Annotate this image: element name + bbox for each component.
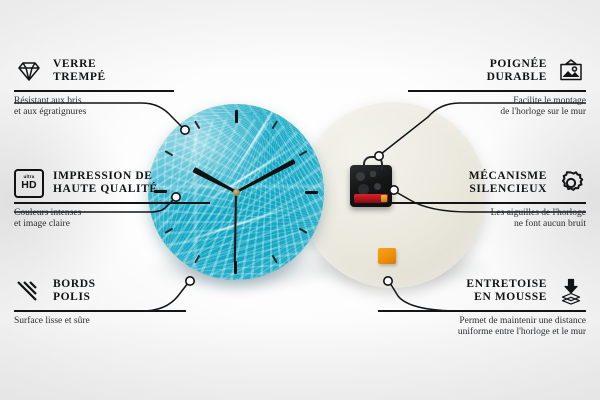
framed-picture-icon [556,56,586,86]
feature-title-line1: IMPRESSION DE [53,170,158,183]
feature-divider [14,202,210,204]
feature-divider [408,90,586,92]
feature-desc-line2: de l'horloge sur le mur [378,107,586,119]
ultra-hd-badge-icon: ultra HD [14,168,44,198]
feature-desc-line1: Permet de maintenir une distance [378,316,586,328]
feature-description: Les aiguilles de l'horloge ne font aucun… [378,208,586,231]
feature-desc-line2: et aux égratignures [14,107,222,119]
feature-desc-line2: et image claire [14,219,222,231]
hands-center-cap [233,189,240,196]
feature-desc-line1: Facilite le montage [378,96,586,108]
feature-title-line2: POLIS [53,291,96,304]
feature-entretoise-en-mousse: ENTRETOISE EN MOUSSE Permet de maintenir… [378,276,586,339]
feature-title-line2: TREMPÉ [53,71,106,84]
hour-marker [236,191,324,193]
feature-title: POIGNÉE DURABLE [487,58,547,84]
feature-description: Permet de maintenir une distance uniform… [378,316,586,339]
mechanism-detail [356,172,365,181]
diamond-icon [14,56,44,86]
feature-title: MÉCANISME SILENCIEUX [469,170,547,196]
feature-desc-line2: ne font aucun bruit [378,219,586,231]
feature-title-line1: VERRE [53,58,106,71]
feature-desc-line1: Résistant aux bris [14,96,222,108]
feature-title: BORDS POLIS [53,278,96,304]
feature-impression-haute-qualite: ultra HD IMPRESSION DE HAUTE QUALITÉ Cou… [14,168,222,231]
feature-desc-line2: uniforme entre l'horloge et le mur [378,327,586,339]
feature-title-line1: ENTRETOISE [466,278,547,291]
mechanism-detail [370,171,376,177]
feature-title: VERRE TREMPÉ [53,58,106,84]
diagonal-lines-icon [14,276,44,306]
feature-title-line1: MÉCANISME [469,170,547,183]
feature-description: Facilite le montage de l'horloge sur le … [378,96,586,119]
feature-title: IMPRESSION DE HAUTE QUALITÉ [53,170,158,196]
feature-poignee-durable: POIGNÉE DURABLE Facilite le montage de l… [378,56,586,119]
feature-description: Résistant aux bris et aux égratignures [14,96,222,119]
feature-title-line2: SILENCIEUX [469,183,547,196]
feature-title: ENTRETOISE EN MOUSSE [466,278,547,304]
feature-title-line2: EN MOUSSE [466,291,547,304]
feature-desc-line1: Surface lisse et sûre [14,316,222,328]
gear-icon [556,168,586,198]
feature-title-line2: DURABLE [487,71,547,84]
feature-divider [14,310,186,312]
hd-label: HD [21,180,37,191]
feature-verre-trempe: VERRE TREMPÉ Résistant aux bris et aux é… [14,56,222,119]
feature-desc-line1: Couleurs intenses [14,208,222,220]
feature-title-line1: BORDS [53,278,96,291]
feature-description: Surface lisse et sûre [14,316,222,328]
foam-spacer-pad [378,248,396,264]
arrow-down-stack-icon [556,276,586,306]
feature-mecanisme-silencieux: MÉCANISME SILENCIEUX Les aiguilles de l'… [378,168,586,231]
infographic-canvas: VERRE TREMPÉ Résistant aux bris et aux é… [0,0,600,400]
feature-divider [378,310,586,312]
feature-divider [390,202,586,204]
feature-title-line2: HAUTE QUALITÉ [53,183,158,196]
feature-description: Couleurs intenses et image claire [14,208,222,231]
feature-desc-line1: Les aiguilles de l'horloge [378,208,586,220]
feature-title-line1: POIGNÉE [487,58,547,71]
feature-bords-polis: BORDS POLIS Surface lisse et sûre [14,276,222,327]
feature-divider [14,90,174,92]
hour-marker [235,104,237,192]
